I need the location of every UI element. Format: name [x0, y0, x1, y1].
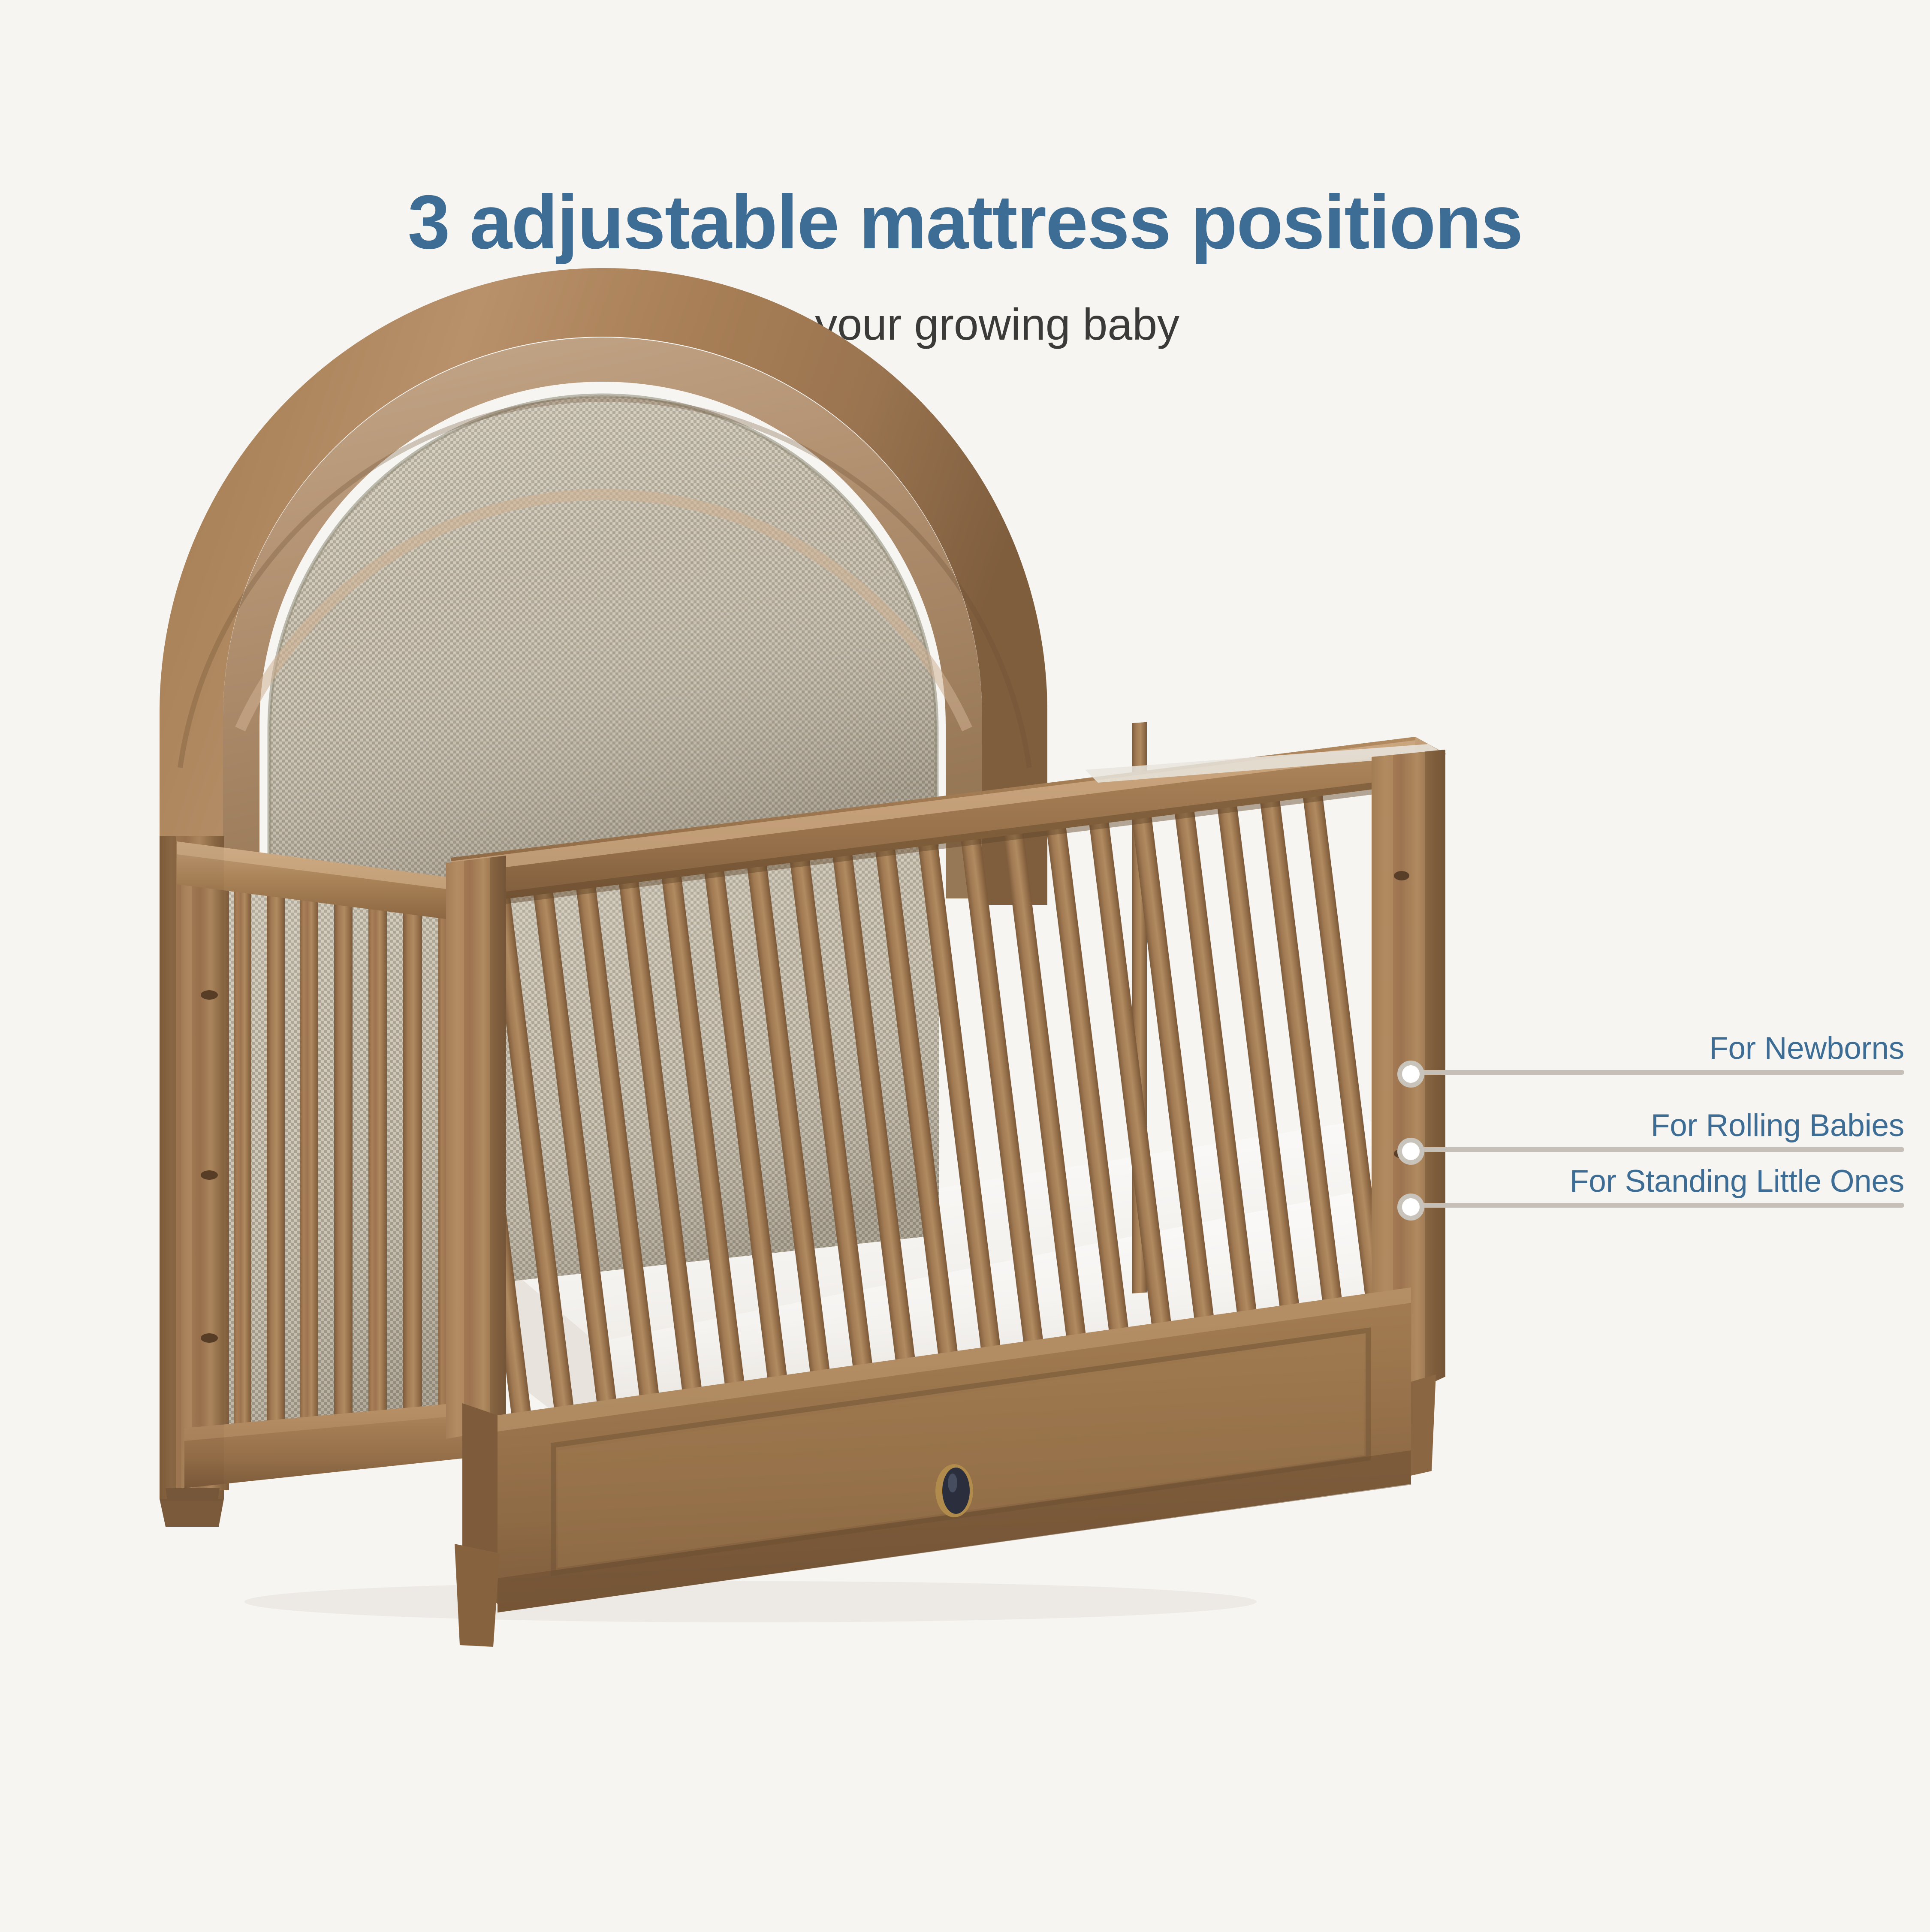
front-left-corner-post: [446, 856, 506, 1439]
callout-leader-line-3: [1421, 1203, 1904, 1208]
infographic-canvas: 3 adjustable mattress positions for your…: [0, 0, 1930, 1930]
front-left-leg: [455, 1544, 500, 1647]
assembly-screw-4: [1394, 871, 1409, 880]
callout-label-1: For Newborns: [1709, 1031, 1904, 1066]
drawer-knob[interactable]: [935, 1464, 973, 1517]
callout-leader-line-1: [1421, 1070, 1904, 1075]
mattress-position-marker-3[interactable]: [1397, 1194, 1424, 1221]
callout-label-3: For Standing Little Ones: [1570, 1163, 1904, 1199]
callout-newborns[interactable]: For Newborns: [1397, 999, 1904, 1081]
crib-illustration: [0, 0, 1930, 1930]
left-side-ambient-shade: [160, 836, 224, 1501]
product-image-crib: [0, 0, 1930, 1930]
floor-shadow: [244, 1581, 1257, 1622]
callout-standing-little-ones[interactable]: For Standing Little Ones: [1397, 1132, 1904, 1214]
